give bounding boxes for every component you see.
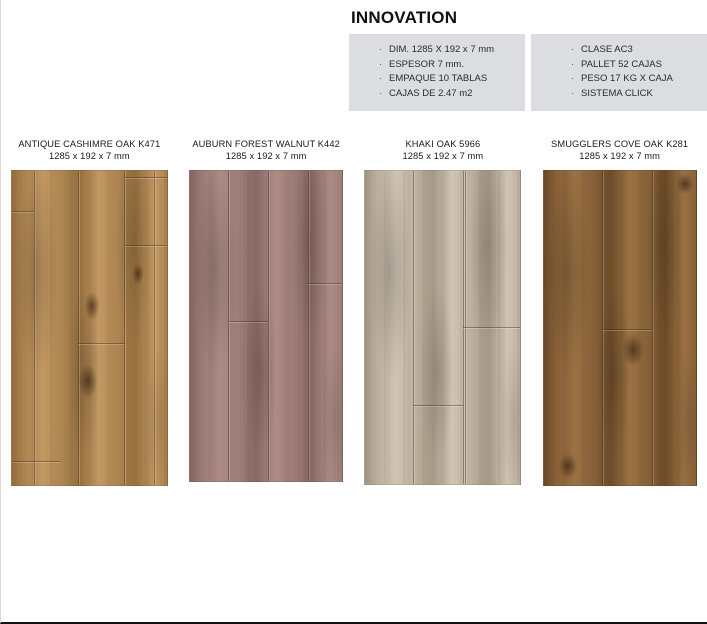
spec-item: ·CAJAS DE 2.47 m2 xyxy=(349,87,525,102)
plank-seams xyxy=(190,171,342,481)
bullet-icon: · xyxy=(571,43,574,58)
spec-item: ·SISTEMA CLICK xyxy=(531,87,707,102)
product-name: KHAKI OAK 5966 xyxy=(405,138,480,150)
bullet-icon: · xyxy=(571,72,574,87)
product-card[interactable]: KHAKI OAK 5966 1285 x 192 x 7 mm xyxy=(355,138,532,486)
spec-item-label: CAJAS DE 2.47 m2 xyxy=(389,88,472,99)
spec-header: INNOVATION ·DIM. 1285 X 192 x 7 mm ·ESPE… xyxy=(349,0,707,111)
spec-item: ·DIM. 1285 X 192 x 7 mm xyxy=(349,43,525,58)
spec-item: ·ESPESOR 7 mm. xyxy=(349,58,525,73)
spec-item-label: DIM. 1285 X 192 x 7 mm xyxy=(389,44,494,55)
spec-item-label: PALLET 52 CAJAS xyxy=(581,59,662,70)
bullet-icon: · xyxy=(571,58,574,73)
plank-seams xyxy=(365,171,520,484)
plank-seams xyxy=(544,171,696,485)
bullet-icon: · xyxy=(571,87,574,102)
spec-item-label: EMPAQUE 10 TABLAS xyxy=(389,73,487,84)
spec-item: ·EMPAQUE 10 TABLAS xyxy=(349,72,525,87)
spec-boxes: ·DIM. 1285 X 192 x 7 mm ·ESPESOR 7 mm. ·… xyxy=(349,34,707,111)
bullet-icon: · xyxy=(379,87,382,102)
properties-box: ·CLASE AC3 ·PALLET 52 CAJAS ·PESO 17 KG … xyxy=(531,34,707,111)
spec-item-label: CLASE AC3 xyxy=(581,44,633,55)
product-swatch-image[interactable] xyxy=(11,170,168,486)
properties-list: ·CLASE AC3 ·PALLET 52 CAJAS ·PESO 17 KG … xyxy=(531,43,707,101)
spec-item-label: SISTEMA CLICK xyxy=(581,88,653,99)
product-grid: ANTIQUE CASHIMRE OAK K471 1285 x 192 x 7… xyxy=(1,138,707,486)
product-dimensions: 1285 x 192 x 7 mm xyxy=(226,150,307,163)
spec-item: ·CLASE AC3 xyxy=(531,43,707,58)
product-swatch-image[interactable] xyxy=(543,170,697,486)
bullet-icon: · xyxy=(379,58,382,73)
product-card[interactable]: AUBURN FOREST WALNUT K442 1285 x 192 x 7… xyxy=(178,138,355,486)
product-dimensions: 1285 x 192 x 7 mm xyxy=(579,150,660,163)
product-swatch-image[interactable] xyxy=(364,170,521,485)
product-dimensions: 1285 x 192 x 7 mm xyxy=(402,150,483,163)
product-dimensions: 1285 x 192 x 7 mm xyxy=(49,150,130,163)
spec-item-label: PESO 17 KG X CAJA xyxy=(581,73,673,84)
plank-seams xyxy=(12,171,167,485)
spec-item-label: ESPESOR 7 mm. xyxy=(389,59,464,70)
product-card[interactable]: SMUGGLERS COVE OAK K281 1285 x 192 x 7 m… xyxy=(531,138,707,486)
product-name: SMUGGLERS COVE OAK K281 xyxy=(551,138,688,150)
product-name: ANTIQUE CASHIMRE OAK K471 xyxy=(18,138,160,150)
product-swatch-image[interactable] xyxy=(189,170,343,482)
product-card[interactable]: ANTIQUE CASHIMRE OAK K471 1285 x 192 x 7… xyxy=(1,138,178,486)
spec-item: ·PALLET 52 CAJAS xyxy=(531,58,707,73)
page-title: INNOVATION xyxy=(349,0,707,34)
bullet-icon: · xyxy=(379,43,382,58)
spec-item: ·PESO 17 KG X CAJA xyxy=(531,72,707,87)
dimensions-list: ·DIM. 1285 X 192 x 7 mm ·ESPESOR 7 mm. ·… xyxy=(349,43,525,101)
product-name: AUBURN FOREST WALNUT K442 xyxy=(192,138,340,150)
bullet-icon: · xyxy=(379,72,382,87)
dimensions-box: ·DIM. 1285 X 192 x 7 mm ·ESPESOR 7 mm. ·… xyxy=(349,34,525,111)
